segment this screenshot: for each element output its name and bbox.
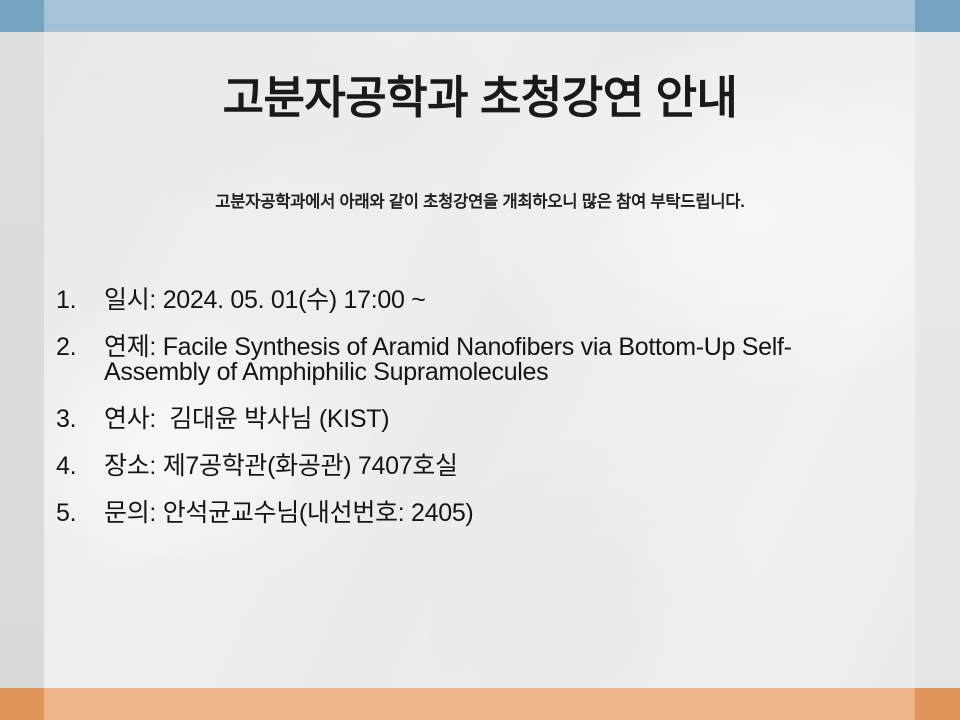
bottom-band-middle-segment (44, 688, 915, 720)
list-item-marker: 2. (56, 335, 104, 360)
list-item-body: 장소: 제7공학관(화공관) 7407호실 (104, 454, 926, 479)
list-item-line: 연제: Facile Synthesis of Aramid Nanofiber… (104, 333, 792, 361)
presentation-slide: 고분자공학과 초청강연 안내 고분자공학과에서 아래와 같이 초청강연을 개최하… (0, 0, 960, 720)
list-item-body: 연제: Facile Synthesis of Aramid Nanofiber… (104, 335, 926, 385)
list-item: 2. 연제: Facile Synthesis of Aramid Nanofi… (56, 335, 926, 385)
list-item-body: 문의: 안석균교수님(내선번호: 2405) (104, 501, 926, 526)
list-item-line: 장소: 제7공학관(화공관) 7407호실 (104, 452, 458, 480)
list-item-marker: 1. (56, 288, 104, 313)
list-item-line: 연사: 김대윤 박사님 (KIST) (104, 405, 389, 433)
bottom-band-right-segment (915, 688, 960, 720)
list-item-line: 문의: 안석균교수님(내선번호: 2405) (104, 499, 473, 527)
list-item-marker: 4. (56, 454, 104, 479)
list-item-marker: 5. (56, 501, 104, 526)
list-item-body: 일시: 2024. 05. 01(수) 17:00 ~ (104, 288, 926, 313)
list-item-line: 일시: 2024. 05. 01(수) 17:00 ~ (104, 286, 426, 314)
list-item: 4. 장소: 제7공학관(화공관) 7407호실 (56, 454, 926, 479)
list-item: 1. 일시: 2024. 05. 01(수) 17:00 ~ (56, 288, 926, 313)
list-item: 3. 연사: 김대윤 박사님 (KIST) (56, 407, 926, 432)
list-item-line-continuation: Assembly of Amphiphilic Supramolecules (104, 358, 548, 386)
page-title: 고분자공학과 초청강연 안내 (0, 72, 960, 124)
bottom-accent-band (0, 688, 960, 720)
list-item-body: 연사: 김대윤 박사님 (KIST) (104, 407, 926, 432)
event-details-list: 1. 일시: 2024. 05. 01(수) 17:00 ~ 2. 연제: Fa… (56, 288, 926, 548)
slide-subtitle: 고분자공학과에서 아래와 같이 초청강연을 개최하오니 많은 참여 부탁드립니다… (0, 188, 960, 212)
slide-content: 고분자공학과 초청강연 안내 고분자공학과에서 아래와 같이 초청강연을 개최하… (0, 0, 960, 720)
bottom-band-left-segment (0, 688, 44, 720)
list-item: 5. 문의: 안석균교수님(내선번호: 2405) (56, 501, 926, 526)
list-item-marker: 3. (56, 407, 104, 432)
